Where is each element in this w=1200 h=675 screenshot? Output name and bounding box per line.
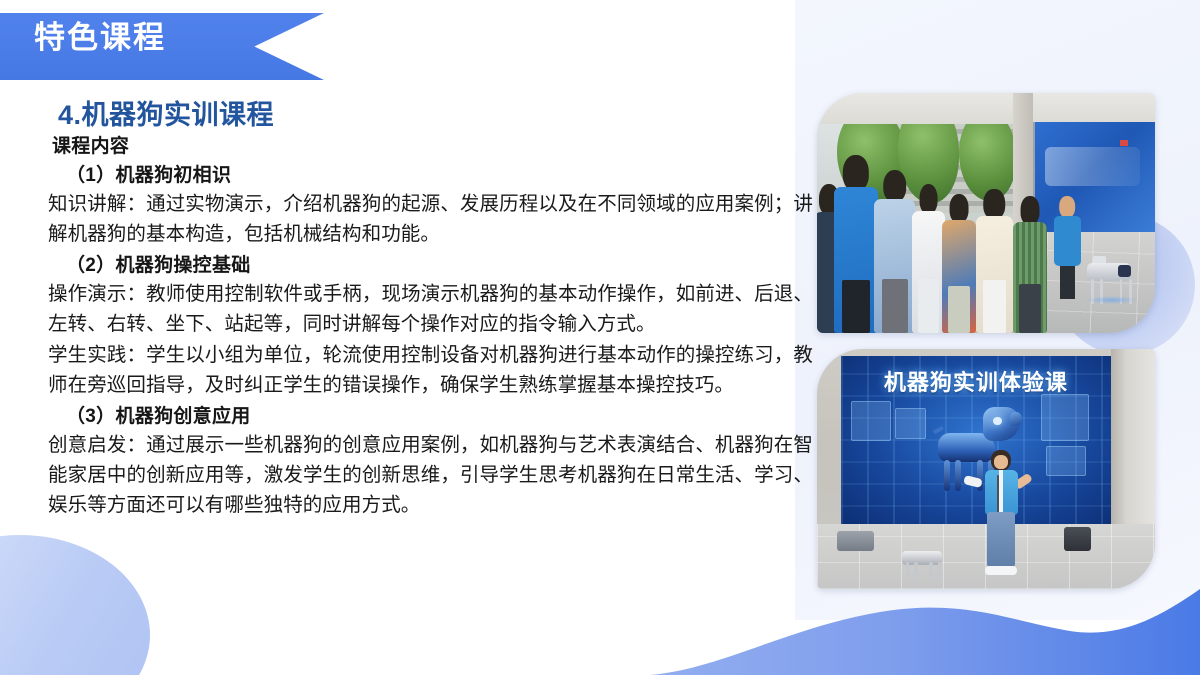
paragraph-2-2: 学生实践：学生以小组为单位，轮流使用控制设备对机器狗进行基本动作的操控练习，教师… bbox=[48, 341, 813, 401]
paragraph-1-1: 知识讲解：通过实物演示，介绍机器狗的起源、发展历程以及在不同领域的应用案例；讲解… bbox=[48, 190, 813, 250]
photo-2-presenter bbox=[979, 450, 1023, 575]
photo-2-equipment-case bbox=[1064, 527, 1091, 551]
sub-heading-2: （2）机器狗操控基础 bbox=[66, 252, 813, 280]
sub-heading-3: （3）机器狗创意应用 bbox=[66, 403, 813, 431]
photo-1-led-screen bbox=[1033, 122, 1155, 237]
photo-2-screen-panel bbox=[1046, 446, 1086, 476]
photo-1-child bbox=[874, 170, 915, 333]
wave-path bbox=[650, 589, 1200, 675]
photo-2-screen-panel bbox=[1041, 394, 1089, 441]
photo-2-equipment-case bbox=[837, 531, 874, 550]
photo-1-child bbox=[976, 189, 1013, 333]
photo-1-ceiling bbox=[817, 93, 1155, 124]
photo-2-scene: 机器狗实训体验课 bbox=[817, 349, 1155, 589]
photo-1-screen-accent bbox=[1120, 140, 1127, 146]
photo-1-child bbox=[834, 155, 878, 333]
photo-2-led-screen: 机器狗实训体验课 bbox=[841, 356, 1111, 529]
paragraph-2-1: 操作演示：教师使用控制软件或手柄，现场演示机器狗的基本动作操作，如前进、后退、左… bbox=[48, 280, 813, 340]
robot-dog-demo-photo bbox=[817, 93, 1155, 333]
photo-2-screen-title: 机器狗实训体验课 bbox=[841, 365, 1111, 397]
page-title: 4.机器狗实训课程 bbox=[58, 100, 813, 132]
robot-dog-training-class-photo: 机器狗实训体验课 bbox=[817, 349, 1155, 589]
photo-1-child bbox=[1013, 196, 1047, 333]
photo-1-robot-dog bbox=[1084, 256, 1141, 304]
photo-2-robot-dog bbox=[898, 543, 952, 581]
header-ribbon-label: 特色课程 bbox=[34, 22, 166, 53]
photo-1-scene bbox=[817, 93, 1155, 333]
photo-2-screen-panel bbox=[851, 401, 891, 441]
slide-root: 特色课程 4.机器狗实训课程 课程内容 （1）机器狗初相识 知识讲解：通过实物演… bbox=[0, 0, 1200, 675]
content-column: 4.机器狗实训课程 课程内容 （1）机器狗初相识 知识讲解：通过实物演示，介绍机… bbox=[48, 100, 813, 522]
photo-2-screen-panel bbox=[895, 408, 927, 439]
photo-1-instructor bbox=[1054, 196, 1081, 299]
sub-heading-1: （1）机器狗初相识 bbox=[66, 162, 813, 190]
paragraph-3-1: 创意启发：通过展示一些机器狗的创意应用案例，如机器狗与艺术表演结合、机器狗在智能… bbox=[48, 431, 813, 520]
photo-1-child bbox=[942, 194, 976, 333]
section-label-course-content: 课程内容 bbox=[52, 135, 813, 160]
photo-1-child bbox=[912, 184, 946, 333]
